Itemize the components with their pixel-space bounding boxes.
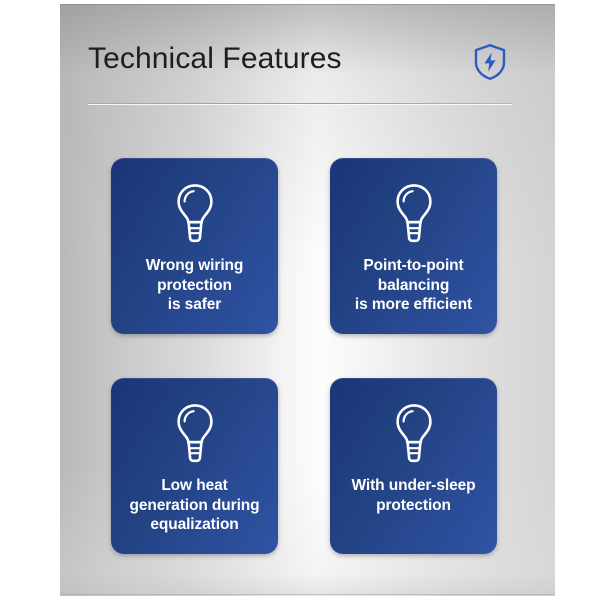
feature-card[interactable]: Low heat generation during equalization	[111, 378, 278, 554]
feature-card-label: Low heat generation during equalization	[111, 476, 278, 535]
header: Technical Features	[88, 38, 513, 104]
feature-card-label: Point-to-point balancing is more efficie…	[330, 256, 497, 315]
lightbulb-icon	[391, 182, 437, 244]
feature-card-grid: Wrong wiring protection is safer Point-t…	[111, 158, 500, 552]
feature-card[interactable]: With under-sleep protection	[330, 378, 497, 554]
panel-top-edge	[60, 4, 555, 5]
feature-card-label: With under-sleep protection	[330, 476, 497, 515]
feature-panel-root: Technical Features W	[0, 0, 600, 600]
feature-card[interactable]: Point-to-point balancing is more efficie…	[330, 158, 497, 334]
header-divider	[88, 103, 512, 104]
feature-card[interactable]: Wrong wiring protection is safer	[111, 158, 278, 334]
shield-bolt-icon	[473, 43, 507, 81]
feature-card-label: Wrong wiring protection is safer	[111, 256, 278, 315]
lightbulb-icon	[391, 402, 437, 464]
panel-bottom-edge	[60, 594, 555, 595]
page-title: Technical Features	[88, 38, 342, 80]
lightbulb-icon	[172, 402, 218, 464]
lightbulb-icon	[172, 182, 218, 244]
